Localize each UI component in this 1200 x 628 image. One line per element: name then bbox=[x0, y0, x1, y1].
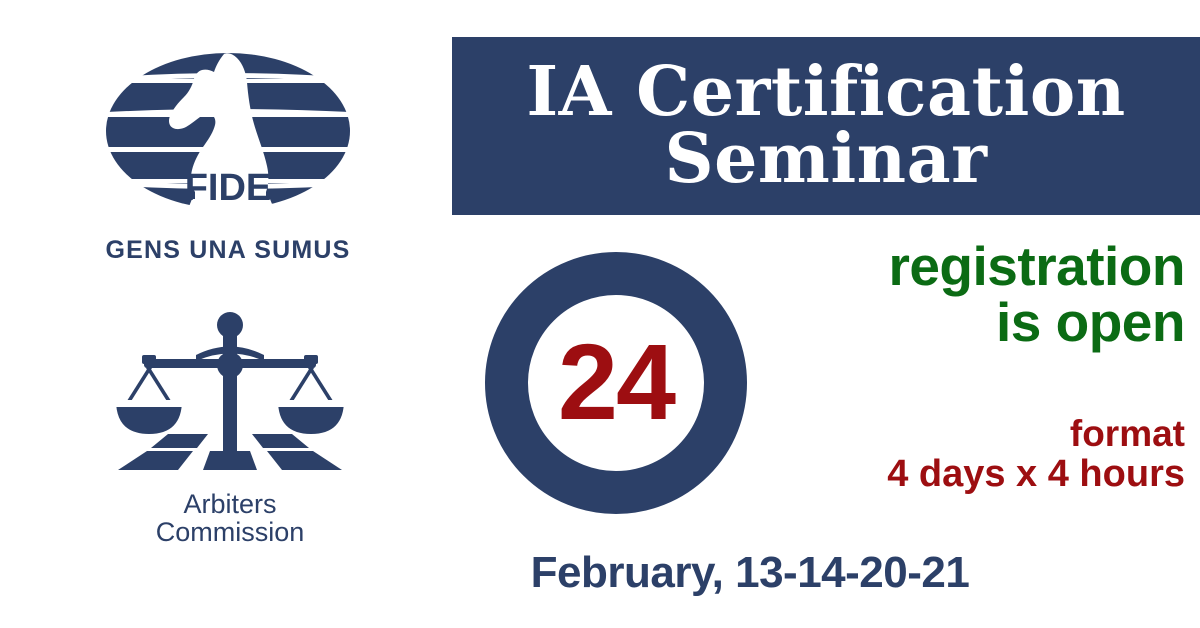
seminar-number: 24 bbox=[558, 328, 674, 436]
registration-status: registration is open bbox=[760, 238, 1185, 350]
title-line-1: IA Certification bbox=[526, 59, 1125, 126]
title-line-2: Seminar bbox=[665, 126, 988, 193]
arbiters-commission-caption: Arbiters Commission bbox=[100, 490, 360, 547]
seminar-dates: February, 13-14-20-21 bbox=[440, 548, 1060, 598]
format-value: 4 days x 4 hours bbox=[760, 454, 1185, 496]
title-banner: IA Certification Seminar bbox=[452, 37, 1200, 215]
registration-status-text: registration is open bbox=[760, 238, 1185, 350]
fide-wordmark: FIDE bbox=[185, 167, 272, 209]
fide-knight-globe-icon: FIDE bbox=[88, 48, 368, 233]
balance-scale-icon bbox=[100, 308, 360, 488]
seminar-number-badge: 24 bbox=[485, 252, 747, 514]
registration-line-2: is open bbox=[760, 294, 1185, 350]
fide-logo: FIDE GENS UNA SUMUS bbox=[88, 48, 368, 278]
fide-motto: GENS UNA SUMUS bbox=[88, 236, 368, 265]
format-label: format bbox=[760, 415, 1185, 454]
poster-canvas: FIDE GENS UNA SUMUS bbox=[0, 0, 1200, 628]
arbiters-caption-line-2: Commission bbox=[100, 518, 360, 546]
registration-line-1: registration bbox=[760, 238, 1185, 294]
arbiters-commission-logo: Arbiters Commission bbox=[100, 308, 360, 568]
arbiters-caption-line-1: Arbiters bbox=[100, 490, 360, 518]
format-block: format 4 days x 4 hours bbox=[760, 415, 1185, 496]
logo-column: FIDE GENS UNA SUMUS bbox=[0, 0, 440, 628]
